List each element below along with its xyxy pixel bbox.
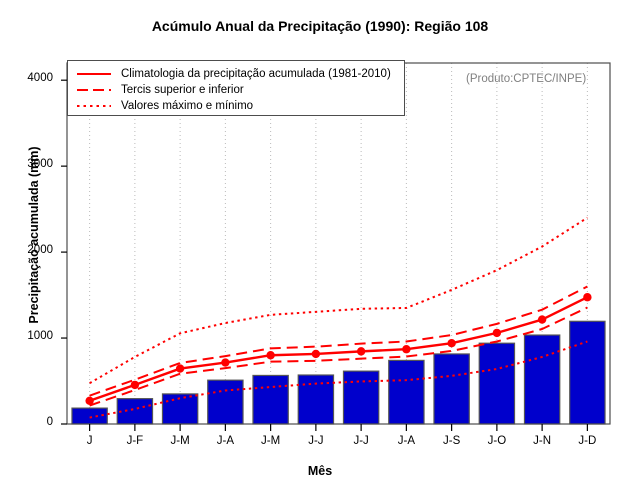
precipitation-chart: Acúmulo Anual da Precipitação (1990): Re… [0, 0, 640, 500]
data-point-marker [266, 351, 274, 359]
x-axis-tick-label: J-J [292, 435, 340, 447]
data-point-marker [493, 329, 501, 337]
x-axis-tick-label: J [66, 435, 114, 447]
x-axis-tick-label: J-N [518, 435, 566, 447]
bar [570, 321, 605, 424]
bar [162, 394, 197, 424]
data-point-marker [357, 347, 365, 355]
bar [524, 335, 559, 424]
data-point-marker [583, 293, 591, 301]
bar [117, 399, 152, 424]
y-axis-tick-label: 4000 [13, 72, 53, 84]
y-axis-tick-label: 3000 [13, 158, 53, 170]
legend-label-climatology: Climatologia da precipitação acumulada (… [121, 68, 391, 80]
legend-label-terciles: Tercis superior e inferior [121, 84, 244, 96]
legend-dashed-line-icon [76, 84, 112, 96]
x-axis-tick-label: J-A [382, 435, 430, 447]
data-point-marker [447, 339, 455, 347]
bar [479, 343, 514, 424]
product-watermark: (Produto:CPTEC/INPE) [466, 73, 586, 85]
data-point-marker [312, 350, 320, 358]
x-axis-tick-label: J-D [563, 435, 611, 447]
legend-solid-line-icon [76, 68, 112, 80]
x-axis-tick-label: J-J [337, 435, 385, 447]
chart-legend: Climatologia da precipitação acumulada (… [67, 60, 405, 116]
x-axis-tick-label: J-F [111, 435, 159, 447]
data-point-marker [538, 315, 546, 323]
data-point-marker [85, 397, 93, 405]
x-axis-tick-label: J-S [428, 435, 476, 447]
x-axis-tick-label: J-M [247, 435, 295, 447]
data-point-marker [131, 381, 139, 389]
bar [389, 360, 424, 424]
legend-item-climatology: Climatologia da precipitação acumulada (… [76, 66, 391, 82]
data-point-marker [221, 358, 229, 366]
bar [343, 371, 378, 424]
data-point-marker [176, 364, 184, 372]
legend-item-minmax: Valores máximo e mínimo [76, 98, 253, 114]
y-axis-tick-label: 2000 [13, 244, 53, 256]
data-point-marker [402, 345, 410, 353]
legend-item-terciles: Tercis superior e inferior [76, 82, 244, 98]
x-axis-tick-label: J-A [201, 435, 249, 447]
x-axis-tick-label: J-M [156, 435, 204, 447]
bar [434, 354, 469, 424]
bar [253, 375, 288, 424]
y-axis-tick-label: 0 [13, 416, 53, 428]
legend-dotted-line-icon [76, 100, 112, 112]
y-axis-tick-label: 1000 [13, 330, 53, 342]
bar [208, 380, 243, 424]
legend-label-minmax: Valores máximo e mínimo [121, 100, 253, 112]
x-axis-tick-label: J-O [473, 435, 521, 447]
